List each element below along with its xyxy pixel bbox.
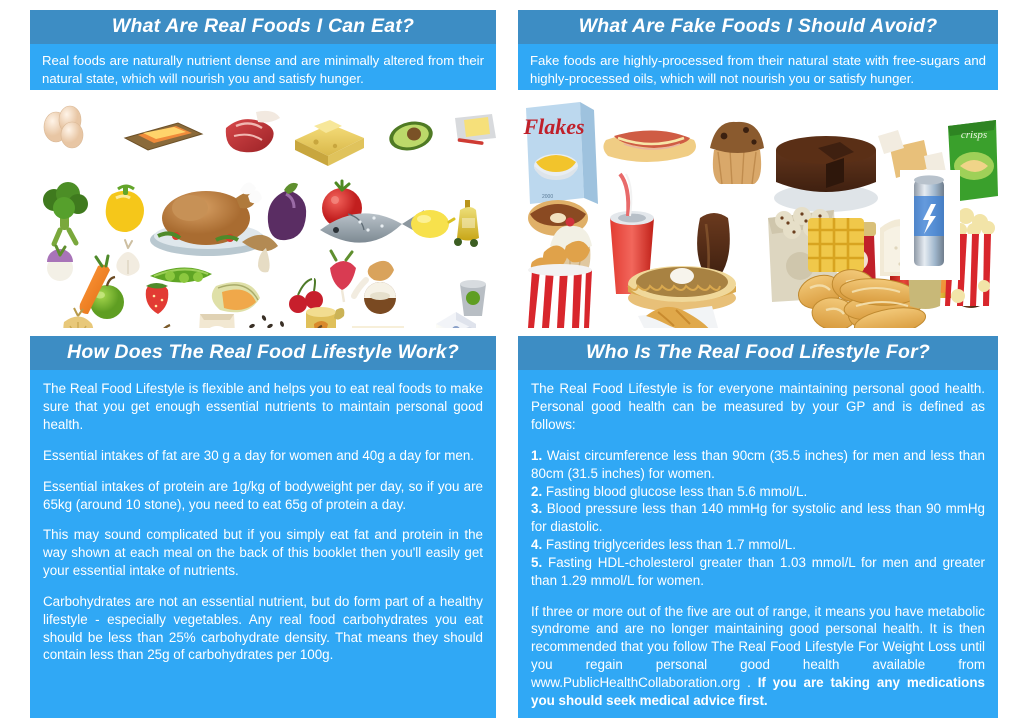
- food-green-peas: [150, 267, 212, 283]
- how-paragraph-5: Carbohydrates are not an essential nutri…: [43, 593, 483, 664]
- how-paragraph-4: This may sound complicated but if you si…: [43, 526, 483, 579]
- food-block-of-cheese: [295, 120, 364, 166]
- food-yoghurt-pot: [460, 280, 486, 316]
- food-waffle: [808, 218, 864, 272]
- real-foods-title: What Are Real Foods I Can Eat?: [30, 10, 496, 44]
- real-foods-image-collage: NUTS: [30, 90, 496, 328]
- food-fried-chicken-bucket: [528, 241, 592, 328]
- food-strawberry: [146, 283, 169, 314]
- food-broccoli: [43, 182, 88, 244]
- fake-foods-subtitle: Fake foods are highly-processed from the…: [518, 44, 998, 96]
- svg-text:2000: 2000: [542, 194, 553, 200]
- criterion-5-text: Fasting HDL-cholesterol greater than 1.0…: [531, 555, 985, 588]
- how-paragraph-2: Essential intakes of fat are 30 g a day …: [43, 447, 483, 465]
- criterion-4-text: Fasting triglycerides less than 1.7 mmol…: [546, 537, 796, 552]
- food-croissant: [638, 306, 718, 328]
- food-grapes: [130, 325, 183, 328]
- food-lemon: [411, 210, 454, 238]
- fake-foods-extra-items: [900, 170, 960, 280]
- who-for-closing: If three or more out of the five are out…: [531, 603, 985, 710]
- criterion-4-number: 4.: [531, 537, 542, 552]
- food-turnip: [47, 246, 73, 281]
- panel-fake-foods: What Are Fake Foods I Should Avoid? Fake…: [518, 10, 998, 96]
- panel-who-is-it-for: Who Is The Real Food Lifestyle For? The …: [518, 336, 998, 718]
- svg-text:crisps: crisps: [961, 129, 987, 141]
- food-muffin: [710, 122, 764, 184]
- food-hot-dog: [603, 130, 696, 162]
- criterion-1: 1. Waist circumference less than 90cm (3…: [531, 447, 985, 483]
- criterion-2-text: Fasting blood glucose less than 5.6 mmol…: [546, 484, 807, 499]
- food-aubergine: [268, 183, 306, 240]
- food-yellow-pepper: [106, 185, 144, 232]
- criterion-2: 2. Fasting blood glucose less than 5.6 m…: [531, 483, 985, 501]
- closing-lead-text: If three or more out of the five are out…: [531, 604, 985, 672]
- closing-separator: .: [740, 675, 758, 690]
- how-paragraph-3: Essential intakes of protein are 1g/kg o…: [43, 478, 483, 514]
- criterion-1-number: 1.: [531, 448, 542, 463]
- food-tinned-food: [306, 307, 344, 328]
- food-cereal-box-flakes: Flakes 2000: [522, 102, 598, 204]
- food-melon-slice: [212, 282, 260, 312]
- infographic-page: What Are Real Foods I Can Eat? Real food…: [0, 0, 1024, 728]
- who-for-body: The Real Food Lifestyle is for everyone …: [518, 370, 998, 718]
- food-nuts-bag: NUTS: [352, 326, 404, 328]
- real-foods-svg: NUTS: [30, 90, 496, 328]
- real-foods-subtitle: Real foods are naturally nutrient dense …: [30, 44, 496, 96]
- criterion-4: 4. Fasting triglycerides less than 1.7 m…: [531, 536, 985, 554]
- criterion-3: 3. Blood pressure less than 140 mmHg for…: [531, 500, 985, 536]
- food-flour-bag: [198, 314, 236, 328]
- criterion-5: 5. Fasting HDL-cholesterol greater than …: [531, 554, 985, 590]
- who-for-intro: The Real Food Lifestyle is for everyone …: [531, 380, 985, 433]
- how-it-works-body: The Real Food Lifestyle is flexible and …: [30, 370, 496, 718]
- who-for-title: Who Is The Real Food Lifestyle For?: [518, 336, 998, 370]
- food-chocolate-cake: [774, 136, 878, 212]
- criterion-1-text: Waist circumference less than 90cm (35.5…: [531, 448, 985, 481]
- criterion-5-number: 5.: [531, 555, 542, 570]
- food-pie: [628, 266, 736, 312]
- criterion-2-number: 2.: [531, 484, 542, 499]
- fake-foods-title: What Are Fake Foods I Should Avoid?: [518, 10, 998, 44]
- food-mushroom: [242, 235, 278, 273]
- food-garlic: [116, 240, 139, 276]
- public-health-collaboration-url[interactable]: www.PublicHealthCollaboration.org: [531, 675, 740, 690]
- how-it-works-title: How Does The Real Food Lifestyle Work?: [30, 336, 496, 370]
- food-coconut: [364, 282, 396, 314]
- food-sunflower-seeds: [249, 315, 290, 328]
- food-avocado: [387, 118, 436, 155]
- food-butter-on-foil: [455, 114, 496, 145]
- panel-real-foods: What Are Real Foods I Can Eat? Real food…: [30, 10, 496, 96]
- energy-drink-svg: [900, 170, 960, 280]
- svg-text:NUTS: NUTS: [366, 327, 391, 328]
- health-criteria-list: 1. Waist circumference less than 90cm (3…: [531, 447, 985, 590]
- svg-text:Flakes: Flakes: [522, 114, 584, 139]
- food-olive-oil-bottle: [454, 200, 479, 247]
- panel-how-it-works: How Does The Real Food Lifestyle Work? T…: [30, 336, 496, 718]
- food-salmon-on-board: [125, 123, 202, 150]
- food-eggs: [44, 106, 83, 148]
- criterion-3-number: 3.: [531, 501, 542, 516]
- criterion-3-text: Blood pressure less than 140 mmHg for sy…: [531, 501, 985, 534]
- how-paragraph-1: The Real Food Lifestyle is flexible and …: [43, 380, 483, 433]
- food-energy-drink-can: [914, 175, 944, 266]
- food-raw-steak: [226, 111, 280, 152]
